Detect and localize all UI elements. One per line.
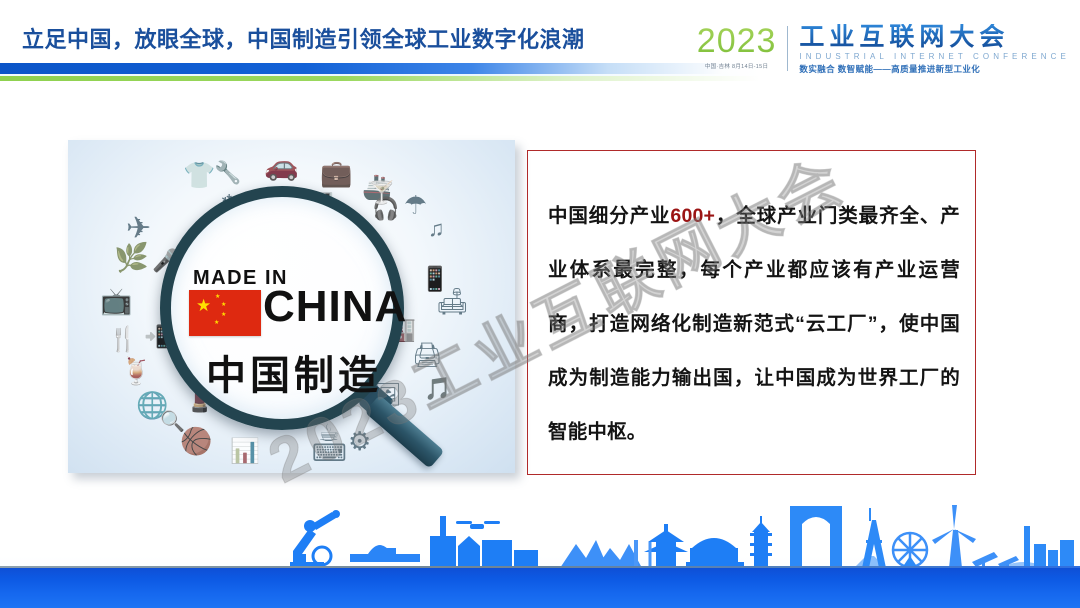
logo-name-en: INDUSTRIAL INTERNET CONFERENCE xyxy=(799,52,1070,61)
logo-subtitle: 数实融合 数智赋能——高质量推进新型工业化 xyxy=(799,63,1070,75)
flag-star-2: ★ xyxy=(221,302,226,308)
cloud-icon-27: 🔧 xyxy=(214,162,241,184)
cloud-icon-0: 👕 xyxy=(183,162,215,188)
header-rule-green xyxy=(0,76,760,81)
header-rule-blue xyxy=(0,63,760,74)
logo-name-block: 工业互联网大会 INDUSTRIAL INTERNET CONFERENCE 数… xyxy=(788,24,1070,75)
cloud-icon-5: 🌿 xyxy=(114,244,149,272)
cloud-icon-23: 📊 xyxy=(230,440,260,464)
cloud-icon-21: ⚙ xyxy=(348,428,371,454)
cloud-icon-1: 🚗 xyxy=(264,152,299,180)
conference-logo: 2023 中国·吉林 8月14日-15日 工业互联网大会 INDUSTRIAL … xyxy=(697,24,1070,75)
callout-highlight: 600+ xyxy=(670,205,715,227)
magnifier-lens: MADE IN ★ ★ ★ ★ ★ CHINA 中国制造 xyxy=(160,186,404,430)
logo-date-location: 中国·吉林 8月14日-15日 xyxy=(697,62,777,70)
header-divider-rule xyxy=(0,63,760,81)
slide-root: 立足中国，放眼全球，中国制造引领全球工业数字化浪潮 2023 中国·吉林 8月1… xyxy=(0,0,1080,608)
cloud-icon-16: 🍹 xyxy=(120,358,152,384)
cloud-icon-2: 💼 xyxy=(320,160,352,186)
cloud-icon-4: ✈ xyxy=(126,214,151,244)
logo-name-cn: 工业互联网大会 xyxy=(799,24,1070,50)
cloud-icon-33: 🎵 xyxy=(424,378,451,400)
callout-paragraph: 中国细分产业600+，全球产业门类最齐全、产业体系最完整，每个产业都应该有产业运… xyxy=(548,189,960,459)
flag-star-4: ★ xyxy=(214,320,219,326)
flag-star-1: ★ xyxy=(215,294,220,300)
cloud-icon-22: ⌨ xyxy=(312,442,347,466)
slide-header: 立足中国，放眼全球，中国制造引领全球工业数字化浪潮 2023 中国·吉林 8月1… xyxy=(0,0,1080,100)
magnifier-icon: MADE IN ★ ★ ★ ★ ★ CHINA 中国制造 xyxy=(160,186,404,430)
cloud-icon-9: ♫ xyxy=(428,218,445,240)
magnifier-handle xyxy=(364,395,444,469)
page-title: 立足中国，放眼全球，中国制造引领全球工业数字化浪潮 xyxy=(22,22,585,54)
made-in-china-image: 👕🚗💼🚢✈🌿🎧🍸☂♫📺🎤📱🛋🍴📲🍹🌐🏀🚲☕⚙⌨📊🎞❄📷🔧🎬💡💄🔍🖨🎵🏭🖼 MAD… xyxy=(68,140,515,473)
cloud-icon-32: 🖨 xyxy=(412,344,442,368)
callout-text-after: ，全球产业门类最齐全、产业体系最完整，每个产业都应该有产业运营商，打造网络化制造… xyxy=(548,205,960,443)
cloud-icon-8: ☂ xyxy=(404,192,427,218)
callout-text-before: 中国细分产业 xyxy=(548,205,670,227)
content-callout-box: 中国细分产业600+，全球产业门类最齐全、产业体系最完整，每个产业都应该有产业运… xyxy=(527,150,976,475)
cloud-icon-13: 🛋 xyxy=(436,288,469,314)
china-label: CHINA xyxy=(263,282,407,332)
cloud-icon-14: 🍴 xyxy=(108,328,138,352)
flag-star-3: ★ xyxy=(221,312,226,318)
china-label-cn: 中国制造 xyxy=(206,343,382,401)
city-skyline-icon xyxy=(0,496,1080,568)
cloud-icon-10: 📺 xyxy=(100,288,132,314)
flag-star-large: ★ xyxy=(196,297,211,314)
logo-year-block: 2023 中国·吉林 8月14日-15日 xyxy=(697,24,788,70)
slide-footer xyxy=(0,493,1080,608)
china-flag-icon: ★ ★ ★ ★ ★ xyxy=(189,290,261,336)
logo-year: 2023 xyxy=(697,24,777,58)
footer-ground-band xyxy=(0,568,1080,608)
